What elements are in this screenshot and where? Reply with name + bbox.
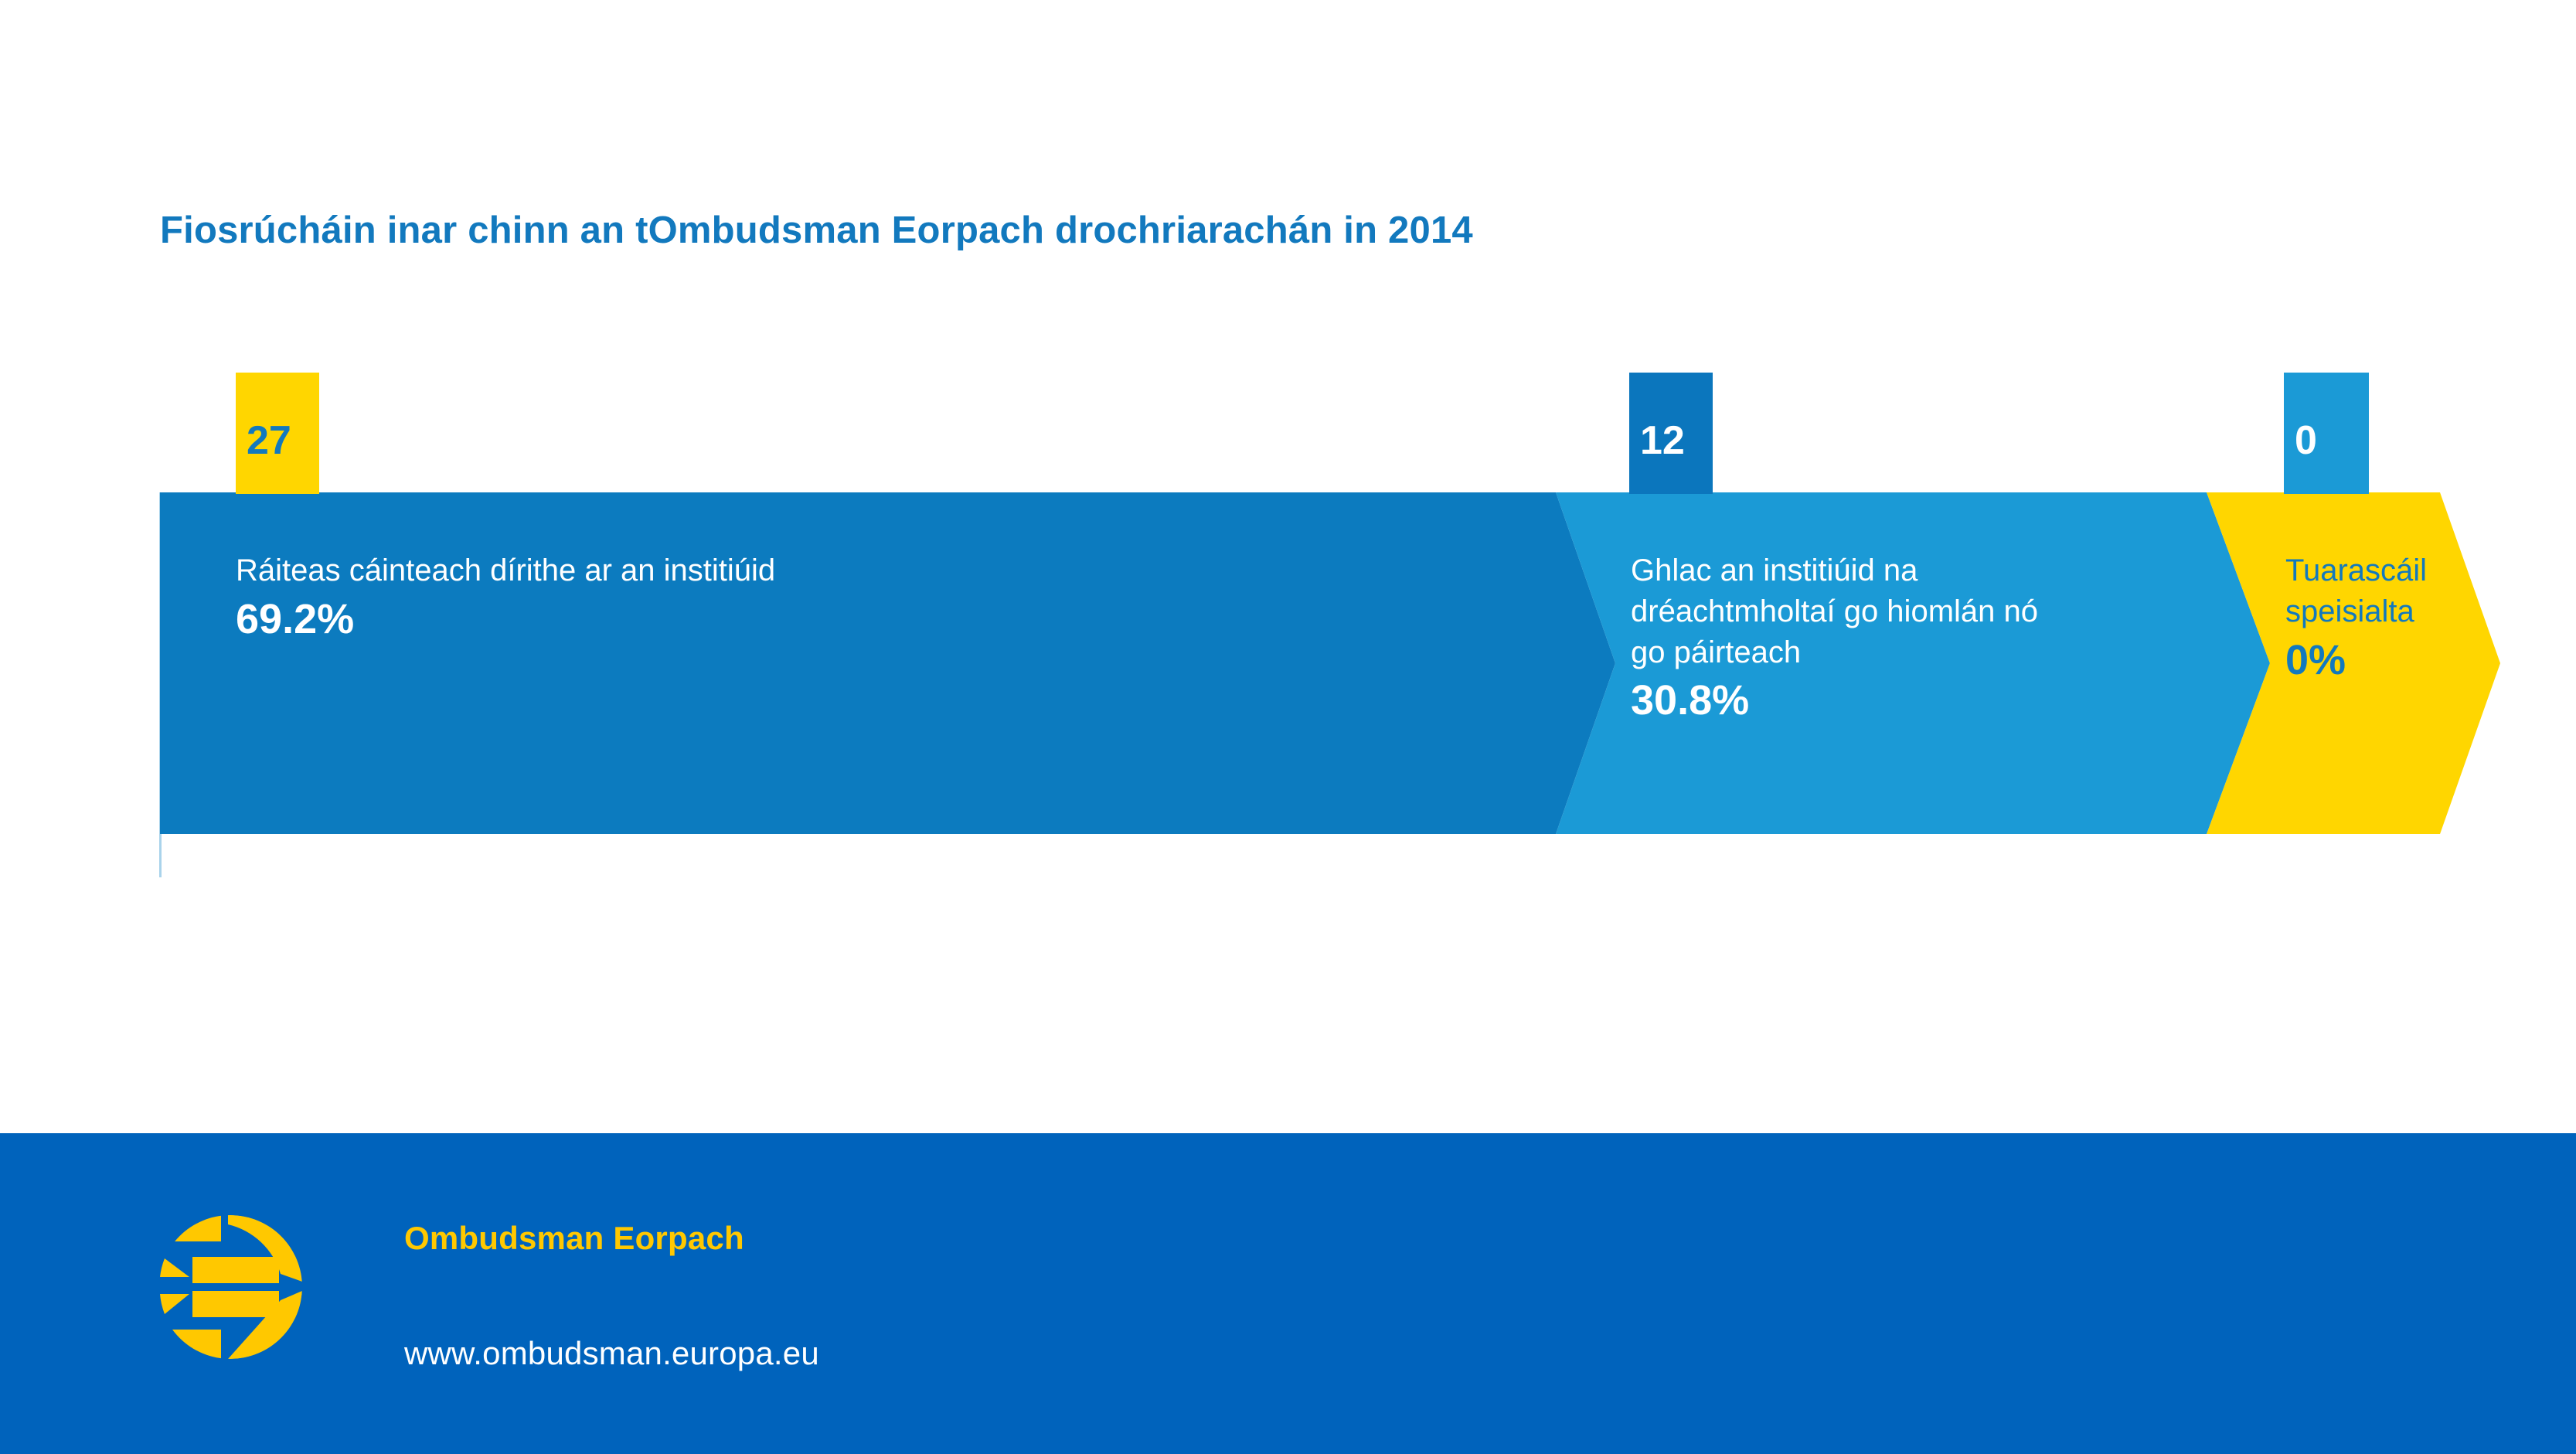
segment-text-1: Ráiteas cáinteach dírithe ar an institiú… xyxy=(236,550,823,645)
segment-percent-2: 30.8% xyxy=(1631,676,2064,726)
funnel-segment-1 xyxy=(160,492,1615,834)
segment-percent-1: 69.2% xyxy=(236,594,823,645)
count-tab-segment-3: 0 xyxy=(2284,373,2369,494)
segment-label-2: Ghlac an institiúid na dréachtmholtaí go… xyxy=(1631,550,2064,673)
count-value-segment-3: 0 xyxy=(2284,373,2317,461)
footer-band xyxy=(0,1133,2576,1454)
segment-percent-3: 0% xyxy=(2285,635,2479,686)
footer-organisation-name: Ombudsman Eorpach xyxy=(404,1220,744,1257)
count-value-segment-2: 12 xyxy=(1629,373,1685,461)
segment-text-3: Tuarascáil speisialta 0% xyxy=(2285,550,2479,685)
european-ombudsman-globe-e-logo-icon xyxy=(157,1214,304,1360)
count-value-segment-1: 27 xyxy=(236,373,291,461)
count-tab-segment-2: 12 xyxy=(1629,373,1713,494)
footer-website-url[interactable]: www.ombudsman.europa.eu xyxy=(404,1335,819,1372)
infographic-page: Fiosrúcháin inar chinn an tOmbudsman Eor… xyxy=(0,0,2576,1454)
segment-label-1: Ráiteas cáinteach dírithe ar an institiú… xyxy=(236,550,823,591)
count-tab-segment-1: 27 xyxy=(236,373,319,494)
segment-text-2: Ghlac an institiúid na dréachtmholtaí go… xyxy=(1631,550,2064,726)
segment-label-3: Tuarascáil speisialta xyxy=(2285,550,2479,632)
axis-guide-line xyxy=(159,492,162,877)
page-title: Fiosrúcháin inar chinn an tOmbudsman Eor… xyxy=(160,210,2401,252)
